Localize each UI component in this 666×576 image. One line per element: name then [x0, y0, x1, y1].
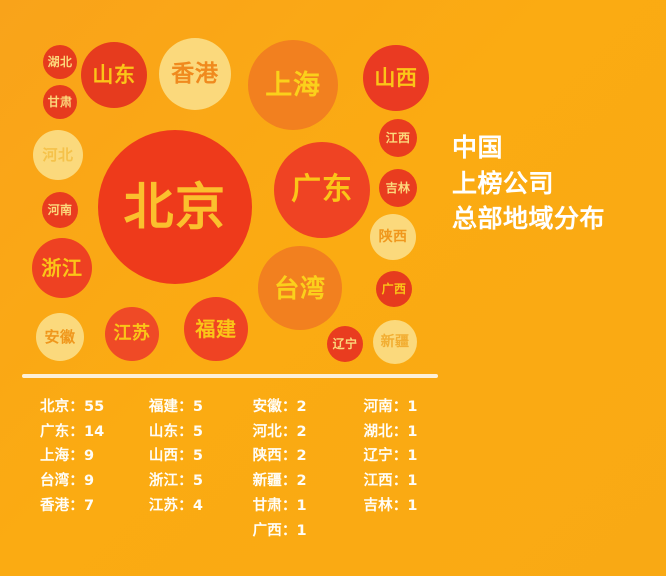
legend-item-浙江: 浙江：5 — [149, 472, 231, 492]
bubble-江苏[interactable]: 江苏 — [105, 307, 159, 361]
legend-column-1: 福建：5山东：5山西：5浙江：5江苏：4 — [125, 398, 231, 541]
legend-region-value: 2 — [297, 399, 307, 415]
bubble-江西[interactable]: 江西 — [379, 119, 417, 157]
title-line-0: 中国 — [452, 130, 652, 166]
legend-region-value: 1 — [297, 523, 307, 539]
legend-separator: ： — [282, 498, 297, 514]
legend-item-台湾: 台湾：9 — [40, 472, 125, 492]
legend-region-name: 辽宁 — [363, 448, 392, 464]
bubble-湖北[interactable]: 湖北 — [43, 45, 77, 79]
legend-region-value: 7 — [84, 498, 94, 514]
legend-separator: ： — [178, 424, 193, 440]
legend-list: 北京：55广东：14上海：9台湾：9香港：7福建：5山东：5山西：5浙江：5江苏… — [22, 398, 442, 541]
legend-item-山西: 山西：5 — [149, 447, 231, 467]
legend-separator: ： — [178, 473, 193, 489]
title-line-1: 上榜公司 — [452, 166, 652, 202]
bubble-香港[interactable]: 香港 — [159, 38, 231, 110]
bubble-吉林[interactable]: 吉林 — [379, 169, 417, 207]
legend-region-value: 5 — [193, 448, 203, 464]
legend-item-新疆: 新疆：2 — [253, 472, 338, 492]
legend-separator: ： — [393, 498, 408, 514]
legend-separator: ： — [393, 399, 408, 415]
bubble-台湾[interactable]: 台湾 — [258, 246, 342, 330]
bubble-山西[interactable]: 山西 — [363, 45, 429, 111]
legend-separator: ： — [282, 523, 297, 539]
legend-item-辽宁: 辽宁：1 — [363, 447, 442, 467]
legend-item-吉林: 吉林：1 — [363, 497, 442, 517]
legend-region-value: 14 — [84, 424, 104, 440]
bubble-辽宁[interactable]: 辽宁 — [327, 326, 363, 362]
legend-region-name: 香港 — [40, 498, 69, 514]
legend-region-name: 山西 — [149, 448, 178, 464]
legend-item-湖北: 湖北：1 — [363, 423, 442, 443]
legend-item-陕西: 陕西：2 — [253, 447, 338, 467]
legend-region-value: 1 — [297, 498, 307, 514]
title-line-2: 总部地域分布 — [452, 201, 652, 237]
legend-separator: ： — [178, 399, 193, 415]
legend-region-name: 上海 — [40, 448, 69, 464]
legend-item-山东: 山东：5 — [149, 423, 231, 443]
legend-region-value: 2 — [297, 424, 307, 440]
legend-separator: ： — [69, 498, 84, 514]
legend-region-value: 1 — [407, 448, 417, 464]
legend-region-value: 2 — [297, 448, 307, 464]
legend-region-name: 江西 — [363, 473, 392, 489]
legend-separator: ： — [178, 448, 193, 464]
bubble-北京[interactable]: 北京 — [98, 130, 252, 284]
legend-separator: ： — [69, 448, 84, 464]
legend-separator: ： — [393, 424, 408, 440]
legend-region-name: 浙江 — [149, 473, 178, 489]
legend-region-value: 5 — [193, 424, 203, 440]
legend-region-value: 9 — [84, 448, 94, 464]
legend-region-name: 安徽 — [253, 399, 282, 415]
legend-region-name: 湖北 — [363, 424, 392, 440]
bubble-河北[interactable]: 河北 — [33, 130, 83, 180]
bubble-广东[interactable]: 广东 — [274, 142, 370, 238]
legend-item-河北: 河北：2 — [253, 423, 338, 443]
legend-region-name: 陕西 — [253, 448, 282, 464]
page-title: 中国上榜公司总部地域分布 — [452, 130, 652, 237]
bubble-chart: 北京广东上海台湾香港福建山东山西浙江江苏安徽河北陕西新疆甘肃广西河南湖北辽宁江西… — [0, 0, 450, 375]
bubble-陕西[interactable]: 陕西 — [370, 214, 416, 260]
bubble-广西[interactable]: 广西 — [376, 271, 412, 307]
legend-region-value: 4 — [193, 498, 203, 514]
legend-item-河南: 河南：1 — [363, 398, 442, 418]
legend-item-甘肃: 甘肃：1 — [253, 497, 338, 517]
bubble-浙江[interactable]: 浙江 — [32, 238, 92, 298]
legend-region-name: 江苏 — [149, 498, 178, 514]
legend-item-江苏: 江苏：4 — [149, 497, 231, 517]
legend-region-value: 9 — [84, 473, 94, 489]
legend-separator: ： — [69, 473, 84, 489]
legend-region-value: 5 — [193, 473, 203, 489]
legend-separator: ： — [178, 498, 193, 514]
legend-region-name: 广西 — [253, 523, 282, 539]
legend-separator: ： — [69, 399, 84, 415]
legend-region-name: 山东 — [149, 424, 178, 440]
legend-item-上海: 上海：9 — [40, 447, 125, 467]
legend-item-香港: 香港：7 — [40, 497, 125, 517]
legend-region-value: 5 — [193, 399, 203, 415]
legend-region-name: 河北 — [253, 424, 282, 440]
bubble-上海[interactable]: 上海 — [248, 40, 338, 130]
legend-region-name: 福建 — [149, 399, 178, 415]
legend-separator: ： — [282, 448, 297, 464]
legend-item-江西: 江西：1 — [363, 472, 442, 492]
legend-item-广西: 广西：1 — [253, 522, 338, 542]
bubble-安徽[interactable]: 安徽 — [36, 313, 84, 361]
legend-column-3: 河南：1湖北：1辽宁：1江西：1吉林：1 — [337, 398, 442, 541]
legend-region-value: 1 — [407, 498, 417, 514]
legend-item-安徽: 安徽：2 — [253, 398, 338, 418]
infographic-canvas: 北京广东上海台湾香港福建山东山西浙江江苏安徽河北陕西新疆甘肃广西河南湖北辽宁江西… — [0, 0, 666, 576]
legend-item-福建: 福建：5 — [149, 398, 231, 418]
legend-region-name: 河南 — [363, 399, 392, 415]
legend-column-0: 北京：55广东：14上海：9台湾：9香港：7 — [22, 398, 125, 541]
legend-region-value: 1 — [407, 424, 417, 440]
legend-separator: ： — [393, 448, 408, 464]
legend-separator: ： — [282, 399, 297, 415]
bubble-甘肃[interactable]: 甘肃 — [43, 85, 77, 119]
legend-region-name: 新疆 — [253, 473, 282, 489]
legend-region-value: 55 — [84, 399, 104, 415]
bubble-福建[interactable]: 福建 — [184, 297, 248, 361]
section-divider — [22, 374, 438, 378]
bubble-新疆[interactable]: 新疆 — [373, 320, 417, 364]
legend-region-name: 吉林 — [363, 498, 392, 514]
legend-item-广东: 广东：14 — [40, 423, 125, 443]
legend-item-北京: 北京：55 — [40, 398, 125, 418]
legend-separator: ： — [282, 473, 297, 489]
legend-region-value: 1 — [407, 473, 417, 489]
legend-separator: ： — [69, 424, 84, 440]
legend-region-value: 2 — [297, 473, 307, 489]
legend-region-name: 北京 — [40, 399, 69, 415]
bubble-河南[interactable]: 河南 — [42, 192, 78, 228]
legend-region-name: 甘肃 — [253, 498, 282, 514]
legend-region-name: 广东 — [40, 424, 69, 440]
legend-region-name: 台湾 — [40, 473, 69, 489]
legend-separator: ： — [282, 424, 297, 440]
legend-column-2: 安徽：2河北：2陕西：2新疆：2甘肃：1广西：1 — [231, 398, 338, 541]
bubble-山东[interactable]: 山东 — [81, 42, 147, 108]
legend-region-value: 1 — [407, 399, 417, 415]
legend-separator: ： — [393, 473, 408, 489]
